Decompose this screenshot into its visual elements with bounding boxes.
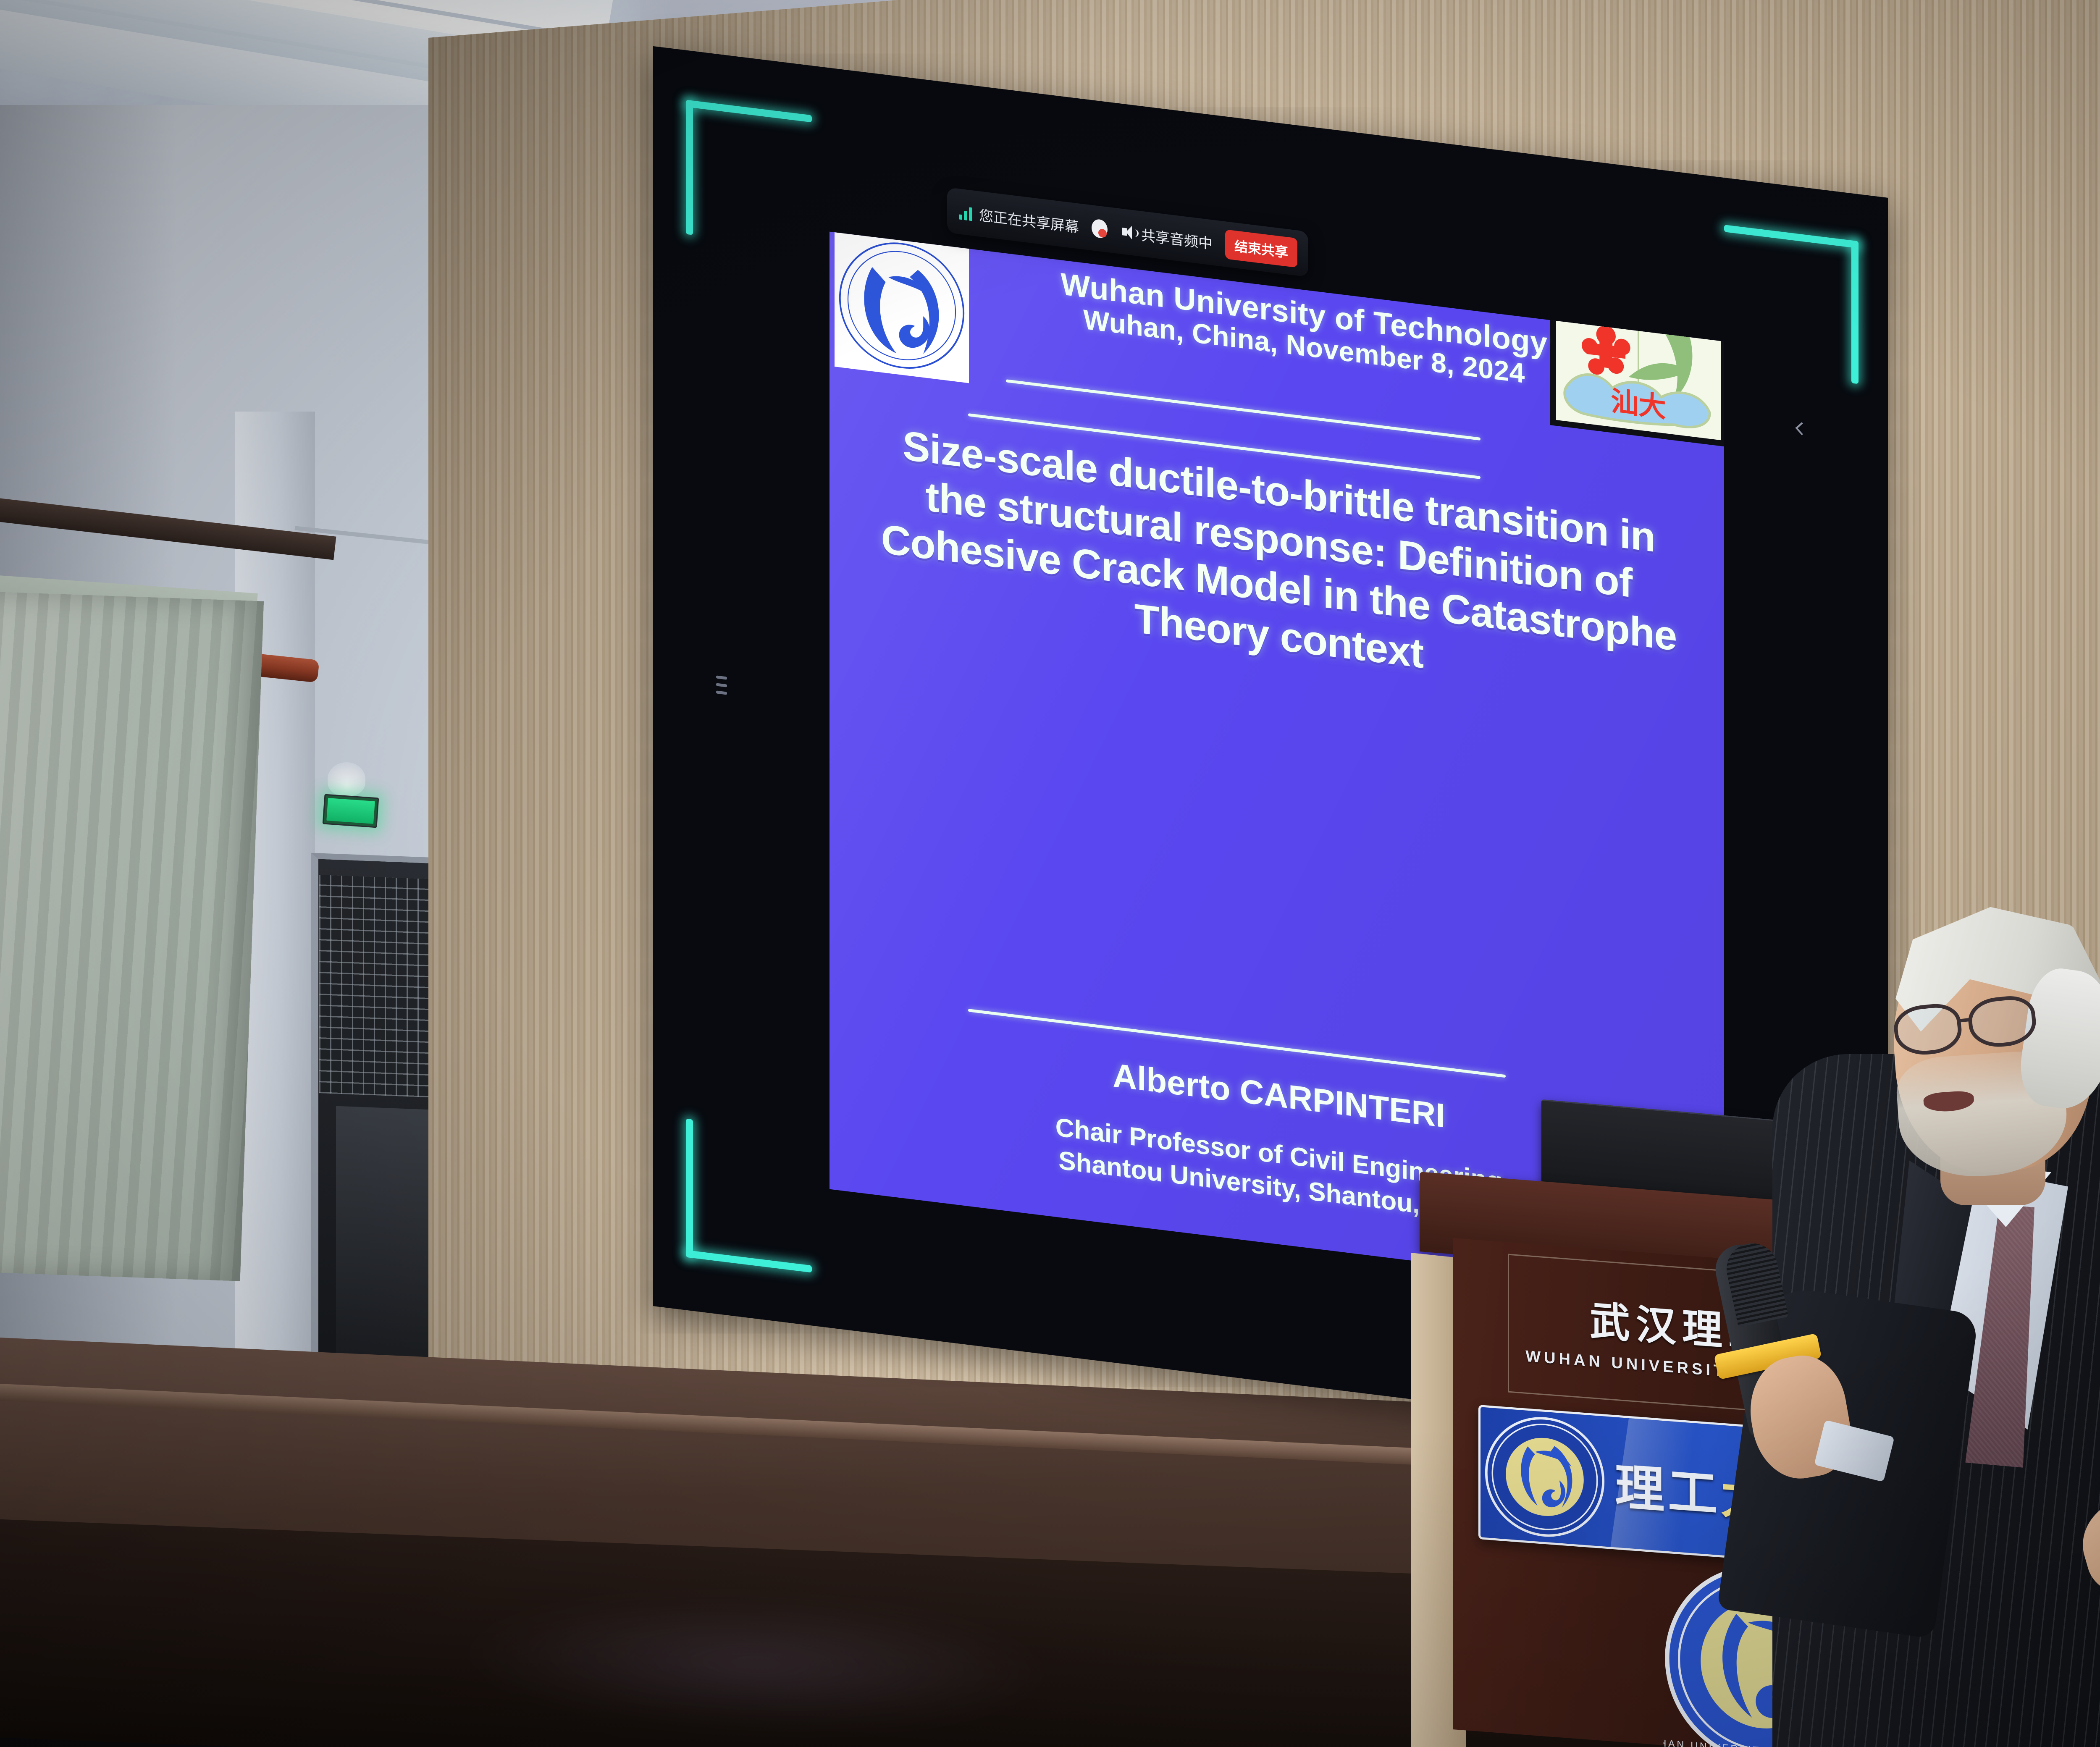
stage-curtain [0, 592, 264, 1281]
share-audio-label: 共享音频中 [1141, 223, 1213, 253]
corner-bracket-bottom-left [686, 1119, 812, 1273]
wall-lamp [328, 762, 365, 796]
share-audio-status[interactable]: 共享音频中 [1120, 221, 1213, 253]
corner-bracket-top-left [686, 100, 812, 250]
share-status-label: 您正在共享屏幕 [979, 204, 1079, 236]
floor-reflection [462, 1586, 1050, 1741]
speaker-person [1756, 873, 2100, 1747]
exit-sign [323, 794, 379, 828]
more-options-icon[interactable] [716, 675, 727, 740]
share-status: 您正在共享屏幕 [958, 201, 1079, 236]
speaker-icon [1120, 223, 1136, 241]
end-share-button[interactable]: 结束共享 [1225, 229, 1297, 268]
corner-bracket-top-right [1724, 225, 1858, 384]
wuhan-university-of-technology-logo [835, 232, 969, 383]
banner-seal-icon [1484, 1411, 1606, 1542]
lecture-hall-photo: 火警119 [0, 0, 2100, 1747]
exit-sign-icon [326, 798, 375, 824]
mic-recording-icon[interactable] [1092, 218, 1108, 239]
chevron-left-icon[interactable] [1794, 421, 1808, 437]
signal-bars-icon [958, 203, 974, 221]
